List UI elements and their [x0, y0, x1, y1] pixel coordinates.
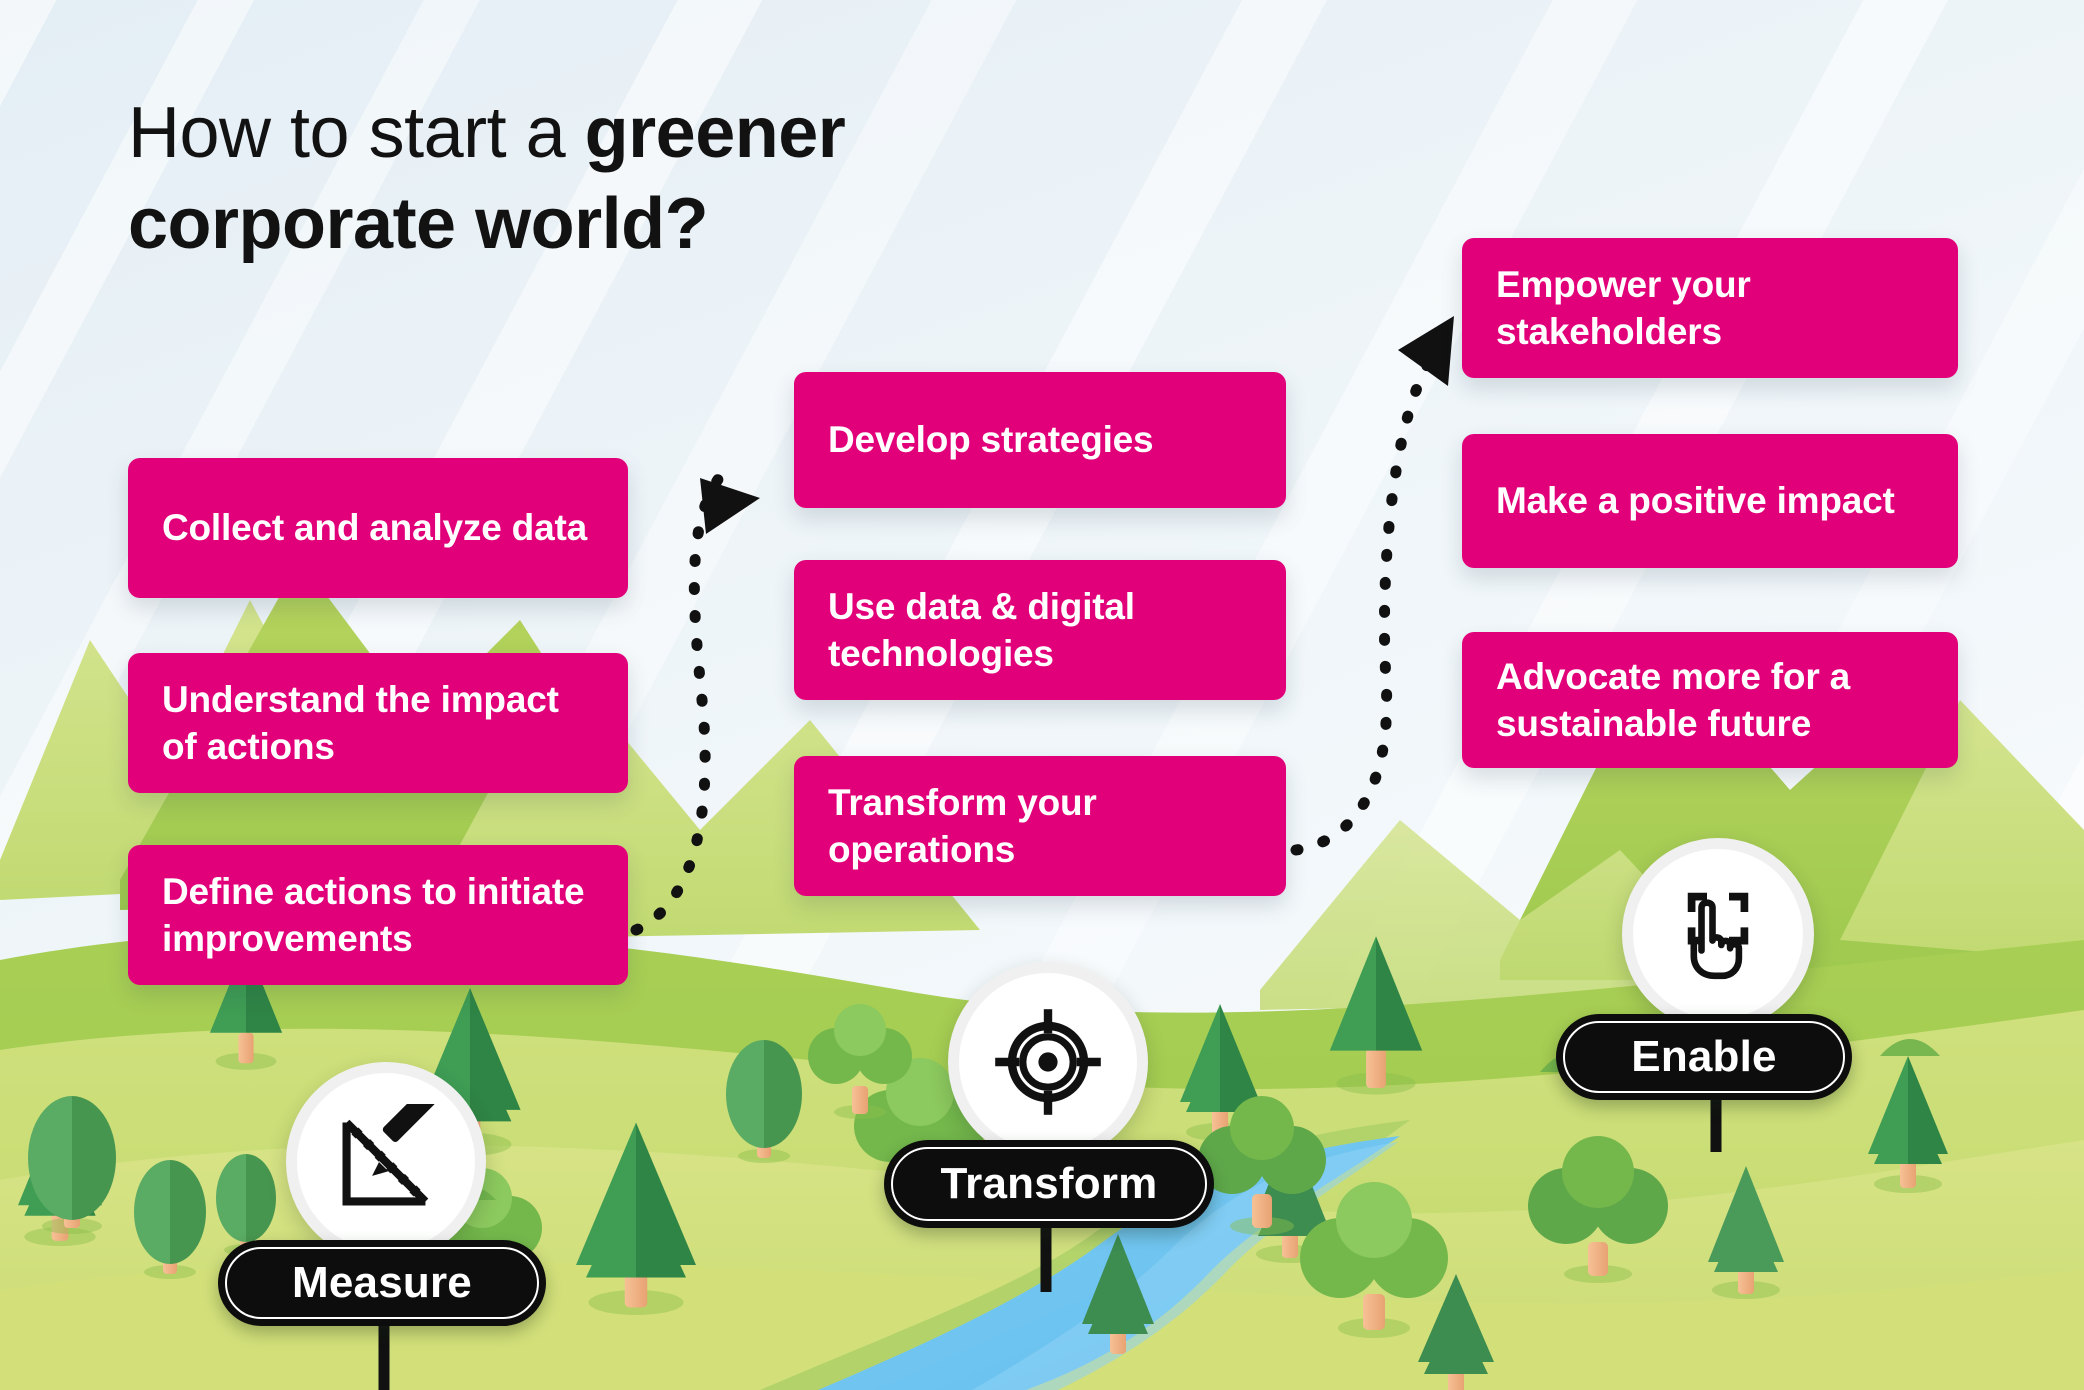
- card-measure-1-label: Collect and analyze data: [162, 504, 587, 551]
- page-title-line1-plain: How to start a: [128, 93, 585, 173]
- card-transform-2[interactable]: Use data & digital technologies: [794, 560, 1286, 700]
- card-enable-2[interactable]: Make a positive impact: [1462, 434, 1958, 568]
- transform-icon-circle: [948, 962, 1148, 1162]
- card-measure-3-label: Define actions to initiate improvements: [162, 868, 594, 963]
- card-enable-3[interactable]: Advocate more for a sustainable future: [1462, 632, 1958, 768]
- card-enable-3-label: Advocate more for a sustainable future: [1496, 653, 1924, 748]
- page-title-line1-bold: greener: [585, 93, 846, 173]
- badge-transform-label: Transform: [941, 1159, 1158, 1209]
- target-crosshair-icon: [988, 1002, 1108, 1122]
- card-transform-3[interactable]: Transform your operations: [794, 756, 1286, 896]
- card-enable-1[interactable]: Empower your stakeholders: [1462, 238, 1958, 378]
- measure-icon-circle: [286, 1062, 486, 1262]
- badge-transform[interactable]: Transform: [884, 1140, 1214, 1228]
- page-title-line2-bold: corporate world?: [128, 184, 708, 264]
- card-transform-2-label: Use data & digital technologies: [828, 583, 1252, 678]
- ruler-pencil-icon: [328, 1104, 444, 1220]
- badge-enable[interactable]: Enable: [1556, 1014, 1852, 1100]
- milestone-transform[interactable]: [948, 962, 1148, 1162]
- tap-hand-icon: [1663, 879, 1773, 989]
- card-transform-1[interactable]: Develop strategies: [794, 372, 1286, 508]
- page-title: How to start a greener corporate world?: [128, 88, 1128, 269]
- card-measure-1[interactable]: Collect and analyze data: [128, 458, 628, 598]
- milestone-measure[interactable]: [286, 1062, 486, 1262]
- card-measure-3[interactable]: Define actions to initiate improvements: [128, 845, 628, 985]
- badge-measure-label: Measure: [292, 1258, 472, 1308]
- infographic-canvas: How to start a greener corporate world? …: [0, 0, 2084, 1390]
- card-enable-2-label: Make a positive impact: [1496, 477, 1895, 524]
- badge-enable-label: Enable: [1631, 1032, 1776, 1082]
- card-transform-1-label: Develop strategies: [828, 416, 1153, 463]
- badge-measure[interactable]: Measure: [218, 1240, 546, 1326]
- card-transform-3-label: Transform your operations: [828, 779, 1252, 874]
- card-measure-2[interactable]: Understand the impact of actions: [128, 653, 628, 793]
- card-enable-1-label: Empower your stakeholders: [1496, 261, 1924, 356]
- enable-icon-circle: [1622, 838, 1814, 1030]
- milestone-enable[interactable]: [1622, 838, 1814, 1030]
- card-measure-2-label: Understand the impact of actions: [162, 676, 594, 771]
